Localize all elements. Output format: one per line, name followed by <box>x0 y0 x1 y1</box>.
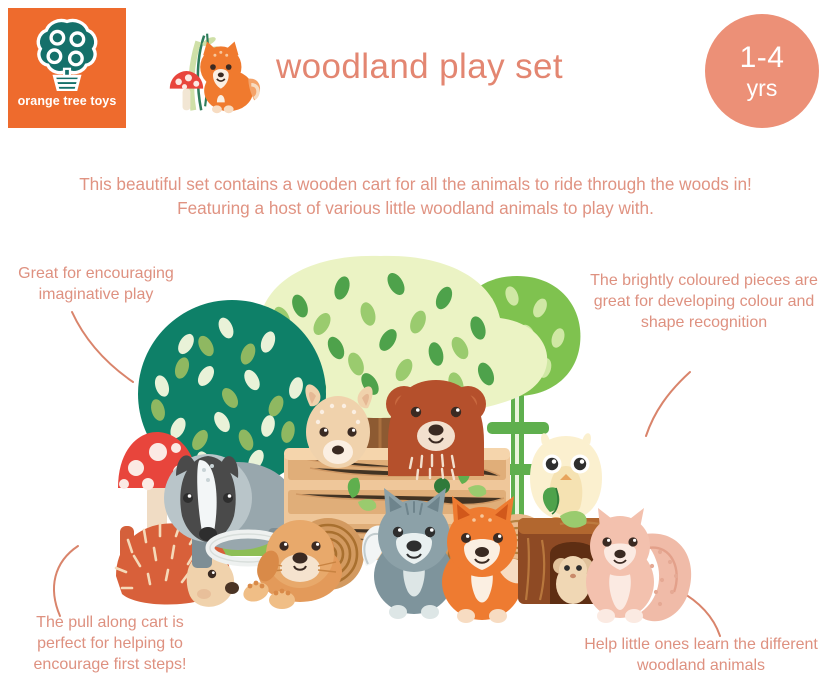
brand-logo: orange tree toys <box>8 8 126 128</box>
product-description: This beautiful set contains a wooden car… <box>66 172 766 221</box>
age-range: 1-4 <box>740 43 785 73</box>
brown-bear <box>386 380 486 479</box>
age-unit: yrs <box>747 77 778 100</box>
callout-bottom-right: Help little ones learn the different woo… <box>581 634 821 676</box>
potted-tree-icon <box>30 17 104 91</box>
pink-squirrel <box>586 508 691 623</box>
brand-name: orange tree toys <box>18 94 117 108</box>
age-badge: 1-4 yrs <box>705 14 819 128</box>
page-title: woodland play set <box>276 47 563 87</box>
fox-with-mushroom-icon <box>158 16 266 124</box>
product-scene-image <box>0 236 831 636</box>
